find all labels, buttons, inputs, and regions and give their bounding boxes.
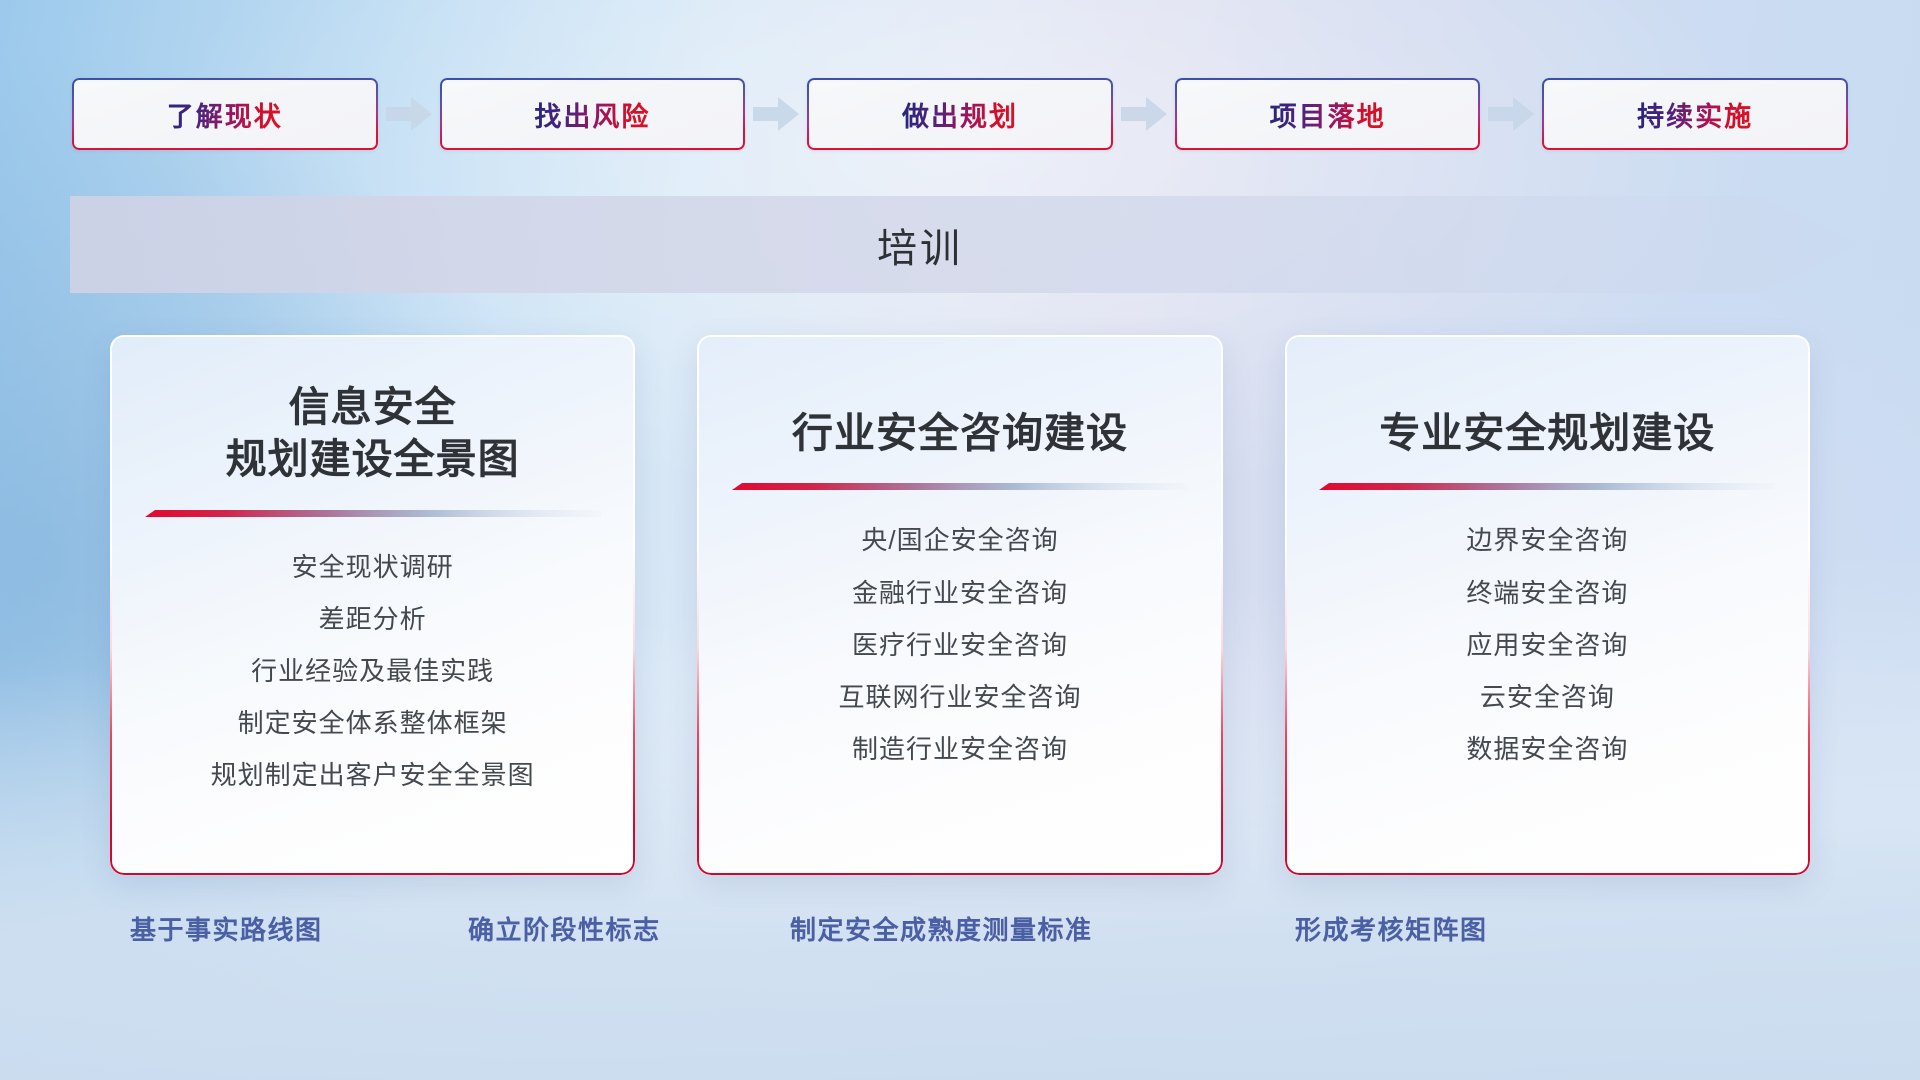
card-list-item: 规划制定出客户安全全景图: [211, 754, 535, 796]
capability-card-0-wrapper: 信息安全 规划建设全景图: [110, 335, 635, 875]
process-arrow-icon-3: [1480, 91, 1542, 137]
capability-card-row: 信息安全 规划建设全景图: [110, 335, 1810, 875]
process-step-1[interactable]: 找出风险: [440, 78, 746, 150]
capability-card-1[interactable]: 行业安全咨询建设: [697, 335, 1222, 875]
card-list-item: 医疗行业安全咨询: [852, 624, 1068, 666]
card-divider: [145, 510, 601, 524]
card-divider: [1319, 483, 1775, 497]
footnote-row: 基于事实路线图 确立阶段性标志 制定安全成熟度测量标准 形成考核矩阵图: [0, 910, 1920, 960]
process-step-0[interactable]: 了解现状: [72, 78, 378, 150]
card-item-list: 边界安全咨询 终端安全咨询 应用安全咨询 云安全咨询 数据安全咨询: [1311, 519, 1784, 770]
card-list-item: 数据安全咨询: [1466, 728, 1628, 770]
card-title: 专业安全规划建设: [1379, 407, 1715, 459]
card-list-item: 差距分析: [319, 598, 427, 640]
process-step-label: 持续实施: [1637, 95, 1753, 134]
card-list-item: 安全现状调研: [292, 546, 454, 588]
process-step-label: 项目落地: [1270, 95, 1386, 134]
card-list-item: 制定安全体系整体框架: [238, 702, 508, 744]
card-list-item: 互联网行业安全咨询: [838, 676, 1081, 718]
process-step-label: 做出规划: [902, 95, 1018, 134]
card-list-item: 终端安全咨询: [1466, 572, 1628, 614]
process-step-label: 了解现状: [167, 95, 283, 134]
process-arrow-icon-0: [378, 91, 440, 137]
card-list-item: 金融行业安全咨询: [852, 572, 1068, 614]
process-step-row: 了解现状 找出风险 做出规划 项目落地 持续实施: [72, 78, 1848, 150]
footnote-label-0: 基于事实路线图: [130, 910, 323, 947]
capability-card-2-wrapper: 专业安全规划建设: [1285, 335, 1810, 875]
footnote-label-1: 确立阶段性标志: [468, 910, 661, 947]
process-step-label: 找出风险: [534, 95, 650, 134]
training-banner: 培训: [70, 196, 1860, 293]
card-list-item: 制造行业安全咨询: [852, 728, 1068, 770]
card-title: 信息安全 规划建设全景图: [226, 381, 520, 486]
card-list-item: 边界安全咨询: [1466, 519, 1628, 561]
card-item-list: 央/国企安全咨询 金融行业安全咨询 医疗行业安全咨询 互联网行业安全咨询 制造行…: [723, 519, 1196, 770]
card-list-item: 行业经验及最佳实践: [251, 650, 494, 692]
capability-card-2[interactable]: 专业安全规划建设: [1285, 335, 1810, 875]
card-divider: [732, 483, 1188, 497]
footnote-label-2: 制定安全成熟度测量标准: [790, 910, 1093, 947]
card-list-item: 云安全咨询: [1480, 676, 1615, 718]
capability-card-1-wrapper: 行业安全咨询建设: [697, 335, 1222, 875]
footnote-label-3: 形成考核矩阵图: [1295, 910, 1488, 947]
process-step-4[interactable]: 持续实施: [1542, 78, 1848, 150]
card-item-list: 安全现状调研 差距分析 行业经验及最佳实践 制定安全体系整体框架 规划制定出客户…: [136, 546, 609, 797]
card-list-item: 央/国企安全咨询: [861, 519, 1058, 561]
card-title: 行业安全咨询建设: [792, 407, 1128, 459]
card-list-item: 应用安全咨询: [1466, 624, 1628, 666]
process-step-2[interactable]: 做出规划: [807, 78, 1113, 150]
process-step-3[interactable]: 项目落地: [1175, 78, 1481, 150]
training-banner-label: 培训: [70, 196, 1770, 293]
process-arrow-icon-2: [1113, 91, 1175, 137]
process-arrow-icon-1: [745, 91, 807, 137]
capability-card-0[interactable]: 信息安全 规划建设全景图: [110, 335, 635, 875]
